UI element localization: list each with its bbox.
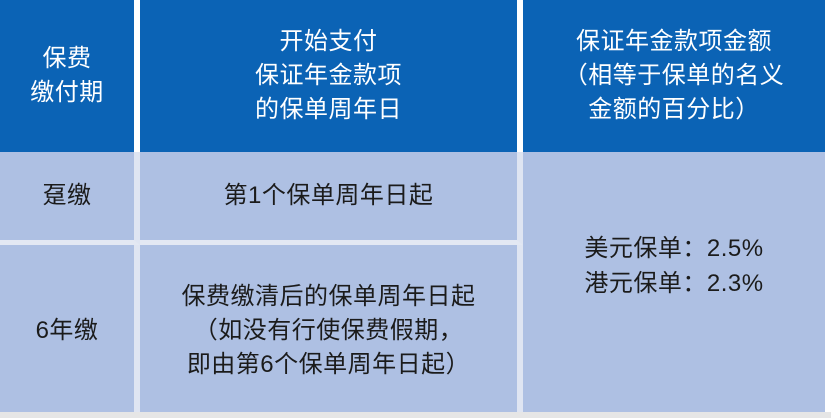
right-edge-band (825, 0, 831, 418)
annuity-table-container: 保费 缴付期 开始支付 保证年金款项 的保单周年日 保证年金款项金额 （相等于保… (0, 0, 831, 418)
table-body: 趸缴 第1个保单周年日起 美元保单：2.5% 港元保单：2.3% 6年缴 保费缴… (0, 152, 825, 417)
header-annuity-amount-line-2: （相等于保单的名义 (529, 59, 819, 93)
header-annuity-start-date-line-3: 的保单周年日 (146, 93, 511, 127)
header-premium-payment-term-line-1: 保费 (6, 42, 128, 76)
cell-term-six-year-line-1: 6年缴 (6, 314, 128, 348)
guaranteed-annuity-table: 保费 缴付期 开始支付 保证年金款项 的保单周年日 保证年金款项金额 （相等于保… (0, 0, 825, 417)
header-annuity-start-date-line-2: 保证年金款项 (146, 59, 511, 93)
cell-term-lump-sum: 趸缴 (0, 152, 140, 245)
cell-start-date-six-year-line-3: 即由第6个保单周年日起） (146, 348, 511, 382)
cell-start-date-six-year-line-2: （如没有行使保费假期， (146, 314, 511, 348)
cell-term-lump-sum-line-1: 趸缴 (6, 179, 128, 213)
annuity-amount-usd: 美元保单：2.5% (529, 232, 819, 266)
header-premium-payment-term: 保费 缴付期 (0, 0, 140, 152)
cell-start-date-six-year-line-1: 保费缴清后的保单周年日起 (146, 280, 511, 314)
header-row: 保费 缴付期 开始支付 保证年金款项 的保单周年日 保证年金款项金额 （相等于保… (0, 0, 825, 152)
header-annuity-amount-line-3: 金额的百分比） (529, 93, 819, 127)
header-annuity-amount-line-1: 保证年金款项金额 (529, 25, 819, 59)
annuity-amount-hkd: 港元保单：2.3% (529, 267, 819, 301)
header-premium-payment-term-line-2: 缴付期 (6, 76, 128, 110)
header-annuity-amount: 保证年金款项金额 （相等于保单的名义 金额的百分比） (523, 0, 825, 152)
header-annuity-start-date-line-1: 开始支付 (146, 25, 511, 59)
cell-start-date-six-year: 保费缴清后的保单周年日起 （如没有行使保费假期， 即由第6个保单周年日起） (140, 245, 523, 417)
table-header: 保费 缴付期 开始支付 保证年金款项 的保单周年日 保证年金款项金额 （相等于保… (0, 0, 825, 152)
bottom-edge-band (0, 412, 831, 418)
cell-start-date-lump-sum-line-1: 第1个保单周年日起 (146, 179, 511, 213)
table-row-lump-sum: 趸缴 第1个保单周年日起 美元保单：2.5% 港元保单：2.3% (0, 152, 825, 245)
cell-term-six-year: 6年缴 (0, 245, 140, 417)
cell-annuity-amount-merged: 美元保单：2.5% 港元保单：2.3% (523, 152, 825, 417)
header-annuity-start-date: 开始支付 保证年金款项 的保单周年日 (140, 0, 523, 152)
cell-start-date-lump-sum: 第1个保单周年日起 (140, 152, 523, 245)
